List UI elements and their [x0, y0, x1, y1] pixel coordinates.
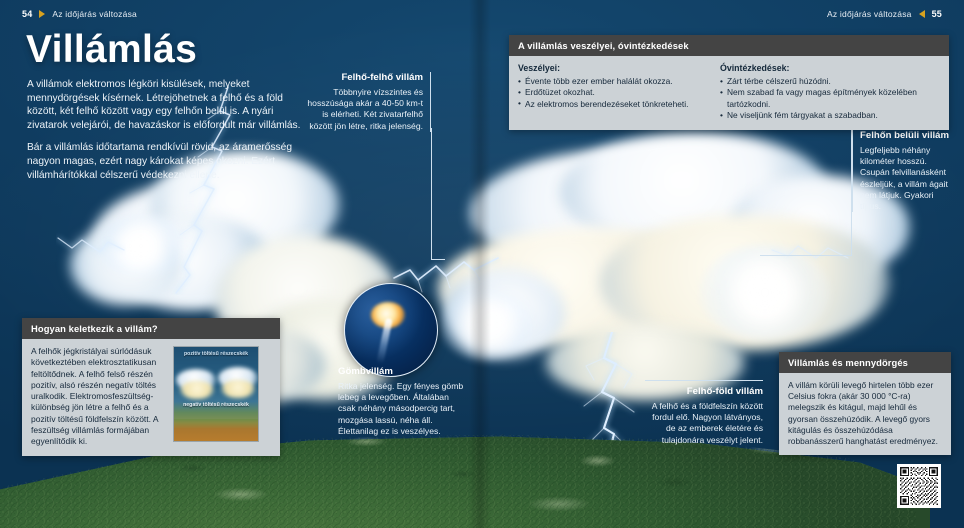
panel-thunder-heading: Villámlás és mennydörgés	[779, 352, 951, 373]
list-item: Nem szabad fa vagy magas építmények köze…	[720, 87, 938, 110]
callout-intra-cloud-body: Legfeljebb néhány kilométer hosszú. Csup…	[860, 145, 956, 212]
intro-text: A villámok elektromos légköri kisülések,…	[27, 78, 302, 182]
panel-thunder-body: A villám körüli levegő hirtelen több eze…	[779, 373, 951, 455]
running-head-right: Az időjárás változása 55	[827, 9, 942, 19]
diagram-cloud-base	[180, 381, 214, 399]
photo-sheen	[345, 284, 437, 376]
ball-lightning-photo	[344, 283, 438, 377]
diagram-ground	[174, 419, 258, 441]
intro-paragraph-1: A villámok elektromos légköri kisülések,…	[27, 78, 302, 132]
page-title: Villámlás	[26, 30, 197, 69]
panel-formation-body: A felhők jégkristályai súrlódásuk követk…	[22, 339, 280, 456]
callout-cloud-to-cloud: Felhő-felhő villám Többnyire vízszintes …	[300, 72, 431, 132]
qr-code[interactable]	[897, 464, 941, 508]
callout-cloud-to-ground-body: A felhő és a földfelszín között fordul e…	[645, 401, 763, 446]
formation-diagram: pozitív töltésű részecskék negatív tölté…	[173, 346, 259, 442]
callout-cloud-to-ground-title: Felhő-föld villám	[645, 386, 763, 398]
callout-ball-lightning: Gömbvillám Ritka jelenség. Egy fényes gö…	[338, 366, 464, 437]
panel-formation: Hogyan keletkezik a villám? A felhők jég…	[22, 318, 280, 456]
callout-cloud-to-cloud-body: Többnyire vízszintes és hosszúsága akár …	[300, 87, 423, 132]
panel-dangers-heading: A villámlás veszélyei, óvintézkedések	[509, 35, 949, 56]
callout-cloud-to-ground: Felhő-föld villám A felhő és a földfelsz…	[645, 380, 763, 446]
panel-dangers-body: Veszélyei: Évente több ezer ember halálá…	[509, 56, 949, 130]
precautions-column: Óvintézkedések: Zárt térbe célszerű húzó…	[720, 63, 938, 122]
page-number-left: 54	[22, 9, 32, 19]
panel-formation-heading: Hogyan keletkezik a villám?	[22, 318, 280, 339]
list-item: Zárt térbe célszerű húzódni.	[720, 76, 938, 87]
dangers-subheading: Veszélyei:	[518, 63, 706, 73]
chapter-title-right: Az időjárás változása	[827, 9, 912, 19]
diagram-label-positive: pozitív töltésű részecskék	[174, 351, 258, 357]
infographic-page: 54 Az időjárás változása Az időjárás vál…	[0, 0, 964, 528]
callout-ball-lightning-title: Gömbvillám	[338, 366, 464, 378]
qr-code-graphic	[900, 467, 938, 505]
panel-formation-text: A felhők jégkristályai súrlódásuk követk…	[31, 346, 164, 448]
running-head-left: 54 Az időjárás változása	[22, 9, 137, 19]
callout-ball-lightning-body: Ritka jelenség. Egy fényes gömb lebeg a …	[338, 381, 464, 437]
triangle-right-icon	[39, 10, 45, 18]
diagram-cloud-base	[221, 380, 255, 398]
callout-intra-cloud-title: Felhőn belüli villám	[860, 130, 956, 142]
list-item: Évente több ezer ember halálát okozza.	[518, 76, 706, 87]
dangers-column: Veszélyei: Évente több ezer ember halálá…	[518, 63, 706, 122]
list-item: Ne viseljünk fém tárgyakat a szabadban.	[720, 110, 938, 121]
panel-thunder-text: A villám körüli levegő hirtelen több eze…	[788, 380, 942, 447]
page-number-right: 55	[932, 9, 942, 19]
panel-dangers: A villámlás veszélyei, óvintézkedések Ve…	[509, 35, 949, 130]
precautions-subheading: Óvintézkedések:	[720, 63, 938, 73]
list-item: Erdőtüzet okozhat.	[518, 87, 706, 98]
triangle-left-icon	[919, 10, 925, 18]
precautions-list: Zárt térbe célszerű húzódni. Nem szabad …	[720, 76, 938, 122]
diagram-label-negative: negatív töltésű részecskék	[174, 402, 258, 408]
list-item: Az elektromos berendezéseket tönkretehet…	[518, 99, 706, 110]
dangers-list: Évente több ezer ember halálát okozza. E…	[518, 76, 706, 110]
panel-thunder: Villámlás és mennydörgés A villám körüli…	[779, 352, 951, 455]
intro-paragraph-2: Bár a villámlás időtartama rendkívül röv…	[27, 141, 302, 182]
callout-cloud-to-cloud-title: Felhő-felhő villám	[300, 72, 423, 84]
callout-intra-cloud: Felhőn belüli villám Legfeljebb néhány k…	[852, 130, 956, 212]
chapter-title-left: Az időjárás változása	[52, 9, 137, 19]
